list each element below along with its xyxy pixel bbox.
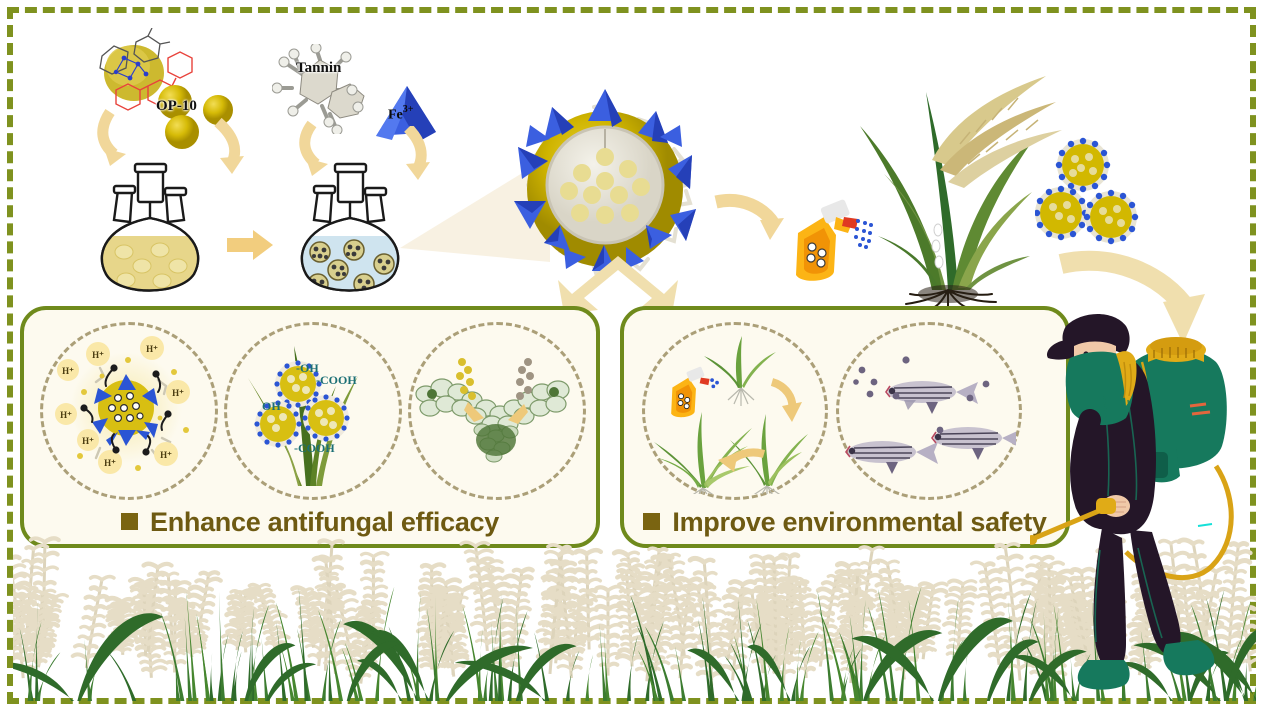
label-cooh-1: -COOH bbox=[316, 373, 357, 387]
arrow-icon-np-to-spray bbox=[712, 192, 788, 250]
arrow-icon-op10-to-flask bbox=[210, 118, 265, 178]
tissue-penetration-illustration bbox=[408, 322, 580, 494]
panel-safety: Improve environmental safety bbox=[620, 306, 1070, 548]
svg-text:H⁺: H⁺ bbox=[104, 458, 116, 468]
label-cooh-2: -COOH bbox=[294, 441, 335, 455]
panel-antifungal-title: Enhance antifungal efficacy bbox=[24, 507, 596, 538]
iron-ion-label: Fe3+ bbox=[388, 104, 413, 123]
panel-antifungal: H⁺H⁺H⁺ H⁺H⁺H⁺ H⁺H⁺ bbox=[20, 306, 600, 548]
ph-release-illustration: H⁺H⁺H⁺ H⁺H⁺H⁺ H⁺H⁺ bbox=[40, 322, 212, 494]
bullet-square-icon bbox=[121, 513, 138, 530]
leaf-adhesion-illustration: -OH -COOH OH -COOH bbox=[224, 322, 396, 494]
svg-text:H⁺: H⁺ bbox=[146, 344, 158, 354]
svg-text:H⁺: H⁺ bbox=[172, 388, 184, 398]
svg-text:H⁺: H⁺ bbox=[82, 436, 94, 446]
nanoparticle-group-icon bbox=[1035, 135, 1165, 250]
tannin-label: Tannin bbox=[296, 60, 341, 77]
panel-safety-title: Improve environmental safety bbox=[624, 507, 1066, 538]
svg-text:H⁺: H⁺ bbox=[92, 350, 104, 360]
plant-growth-illustration bbox=[642, 322, 822, 494]
zebrafish-illustration bbox=[836, 322, 1016, 494]
svg-text:H⁺: H⁺ bbox=[160, 450, 172, 460]
label-oh-2: OH bbox=[262, 399, 281, 413]
arrow-icon-flask-to-flask bbox=[227, 228, 275, 262]
bullet-square-icon-2 bbox=[643, 513, 660, 530]
flask-yellow-icon bbox=[88, 160, 213, 300]
op10-label: OP-10 bbox=[156, 98, 197, 115]
farmer-with-backpack-sprayer-icon bbox=[1030, 300, 1245, 700]
graphical-abstract: OP-10 Tannin Fe3+ bbox=[0, 0, 1269, 714]
svg-text:H⁺: H⁺ bbox=[60, 410, 72, 420]
panel-antifungal-title-text: Enhance antifungal efficacy bbox=[150, 507, 499, 537]
svg-text:H⁺: H⁺ bbox=[62, 366, 74, 376]
arrow-icon-molecule-to-flask bbox=[96, 108, 151, 168]
panel-safety-title-text: Improve environmental safety bbox=[672, 507, 1046, 537]
arrow-icon-growth-right bbox=[772, 382, 802, 422]
